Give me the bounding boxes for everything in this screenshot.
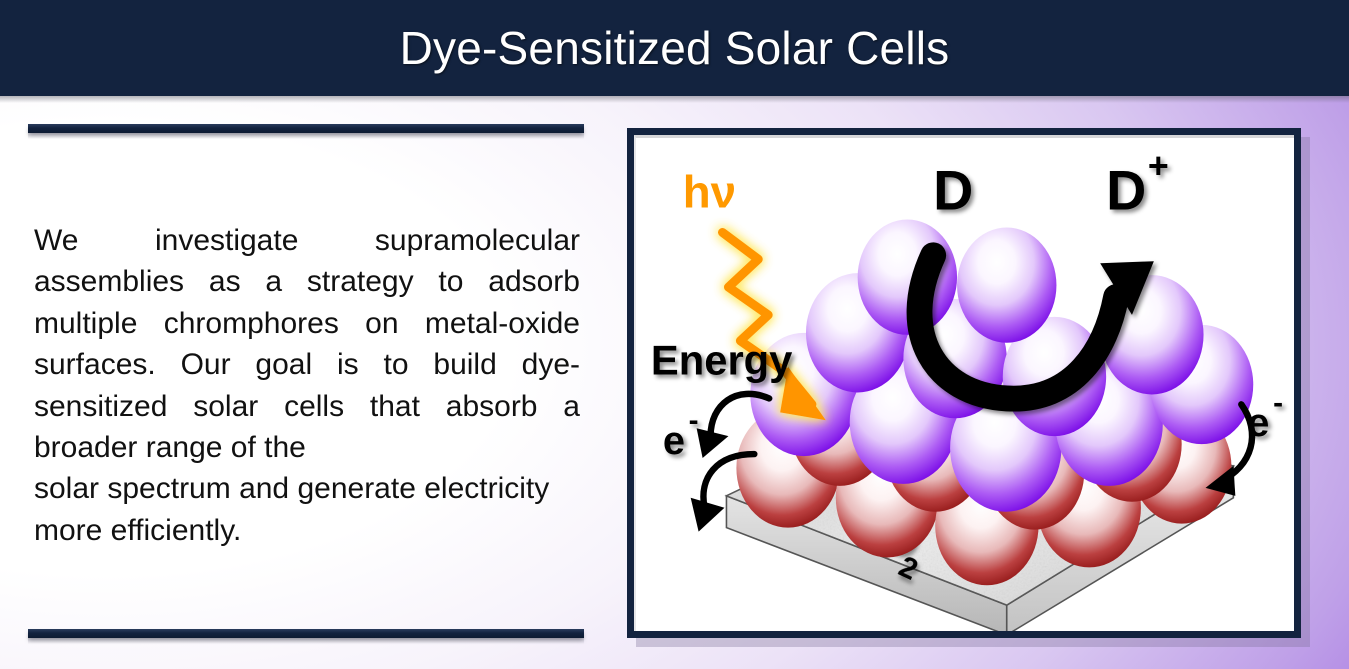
electron-label-right: e - [1247,386,1283,445]
electron-left-arrow-head [691,498,725,532]
electron-label-left-base: e [663,419,685,463]
top-divider-shadow [28,133,584,139]
energy-label: Energy [651,337,792,384]
dye-sphere [957,227,1056,342]
energy-arrow-head [697,428,729,458]
body-paragraph: We investigate supramolecular assemblies… [34,220,580,551]
dye-oxidized-label-superscript: + [1148,146,1169,186]
page-title: Dye-Sensitized Solar Cells [400,25,950,71]
dye-oxidized-label-base: D [1106,160,1146,222]
slide-title-banner: Dye-Sensitized Solar Cells [0,0,1349,96]
top-divider-rule [28,124,584,133]
electron-label-left-superscript: - [689,404,699,437]
dye-neutral-label: D [933,160,973,222]
dssc-mechanism-diagram: TiO 2 [636,138,1294,631]
electron-label-left: e - [663,404,699,463]
dye-oxidized-label: D + [1106,146,1169,222]
electron-label-right-base: e [1247,401,1269,445]
body-paragraph-lastline: solar spectrum and generate electricity … [34,468,580,551]
banner-drop-shadow [0,96,1349,103]
electron-label-right-superscript: - [1273,386,1283,419]
slide-root: Dye-Sensitized Solar Cells We investigat… [0,0,1349,669]
bottom-divider-rule [28,629,584,638]
body-paragraph-main: We investigate supramolecular assemblies… [34,224,580,464]
photon-label: hν [683,167,736,218]
bottom-divider-shadow [28,638,584,644]
figure-frame: TiO 2 [627,128,1301,638]
figure-panel: TiO 2 [634,135,1294,631]
left-text-column: We investigate supramolecular assemblies… [28,124,584,646]
